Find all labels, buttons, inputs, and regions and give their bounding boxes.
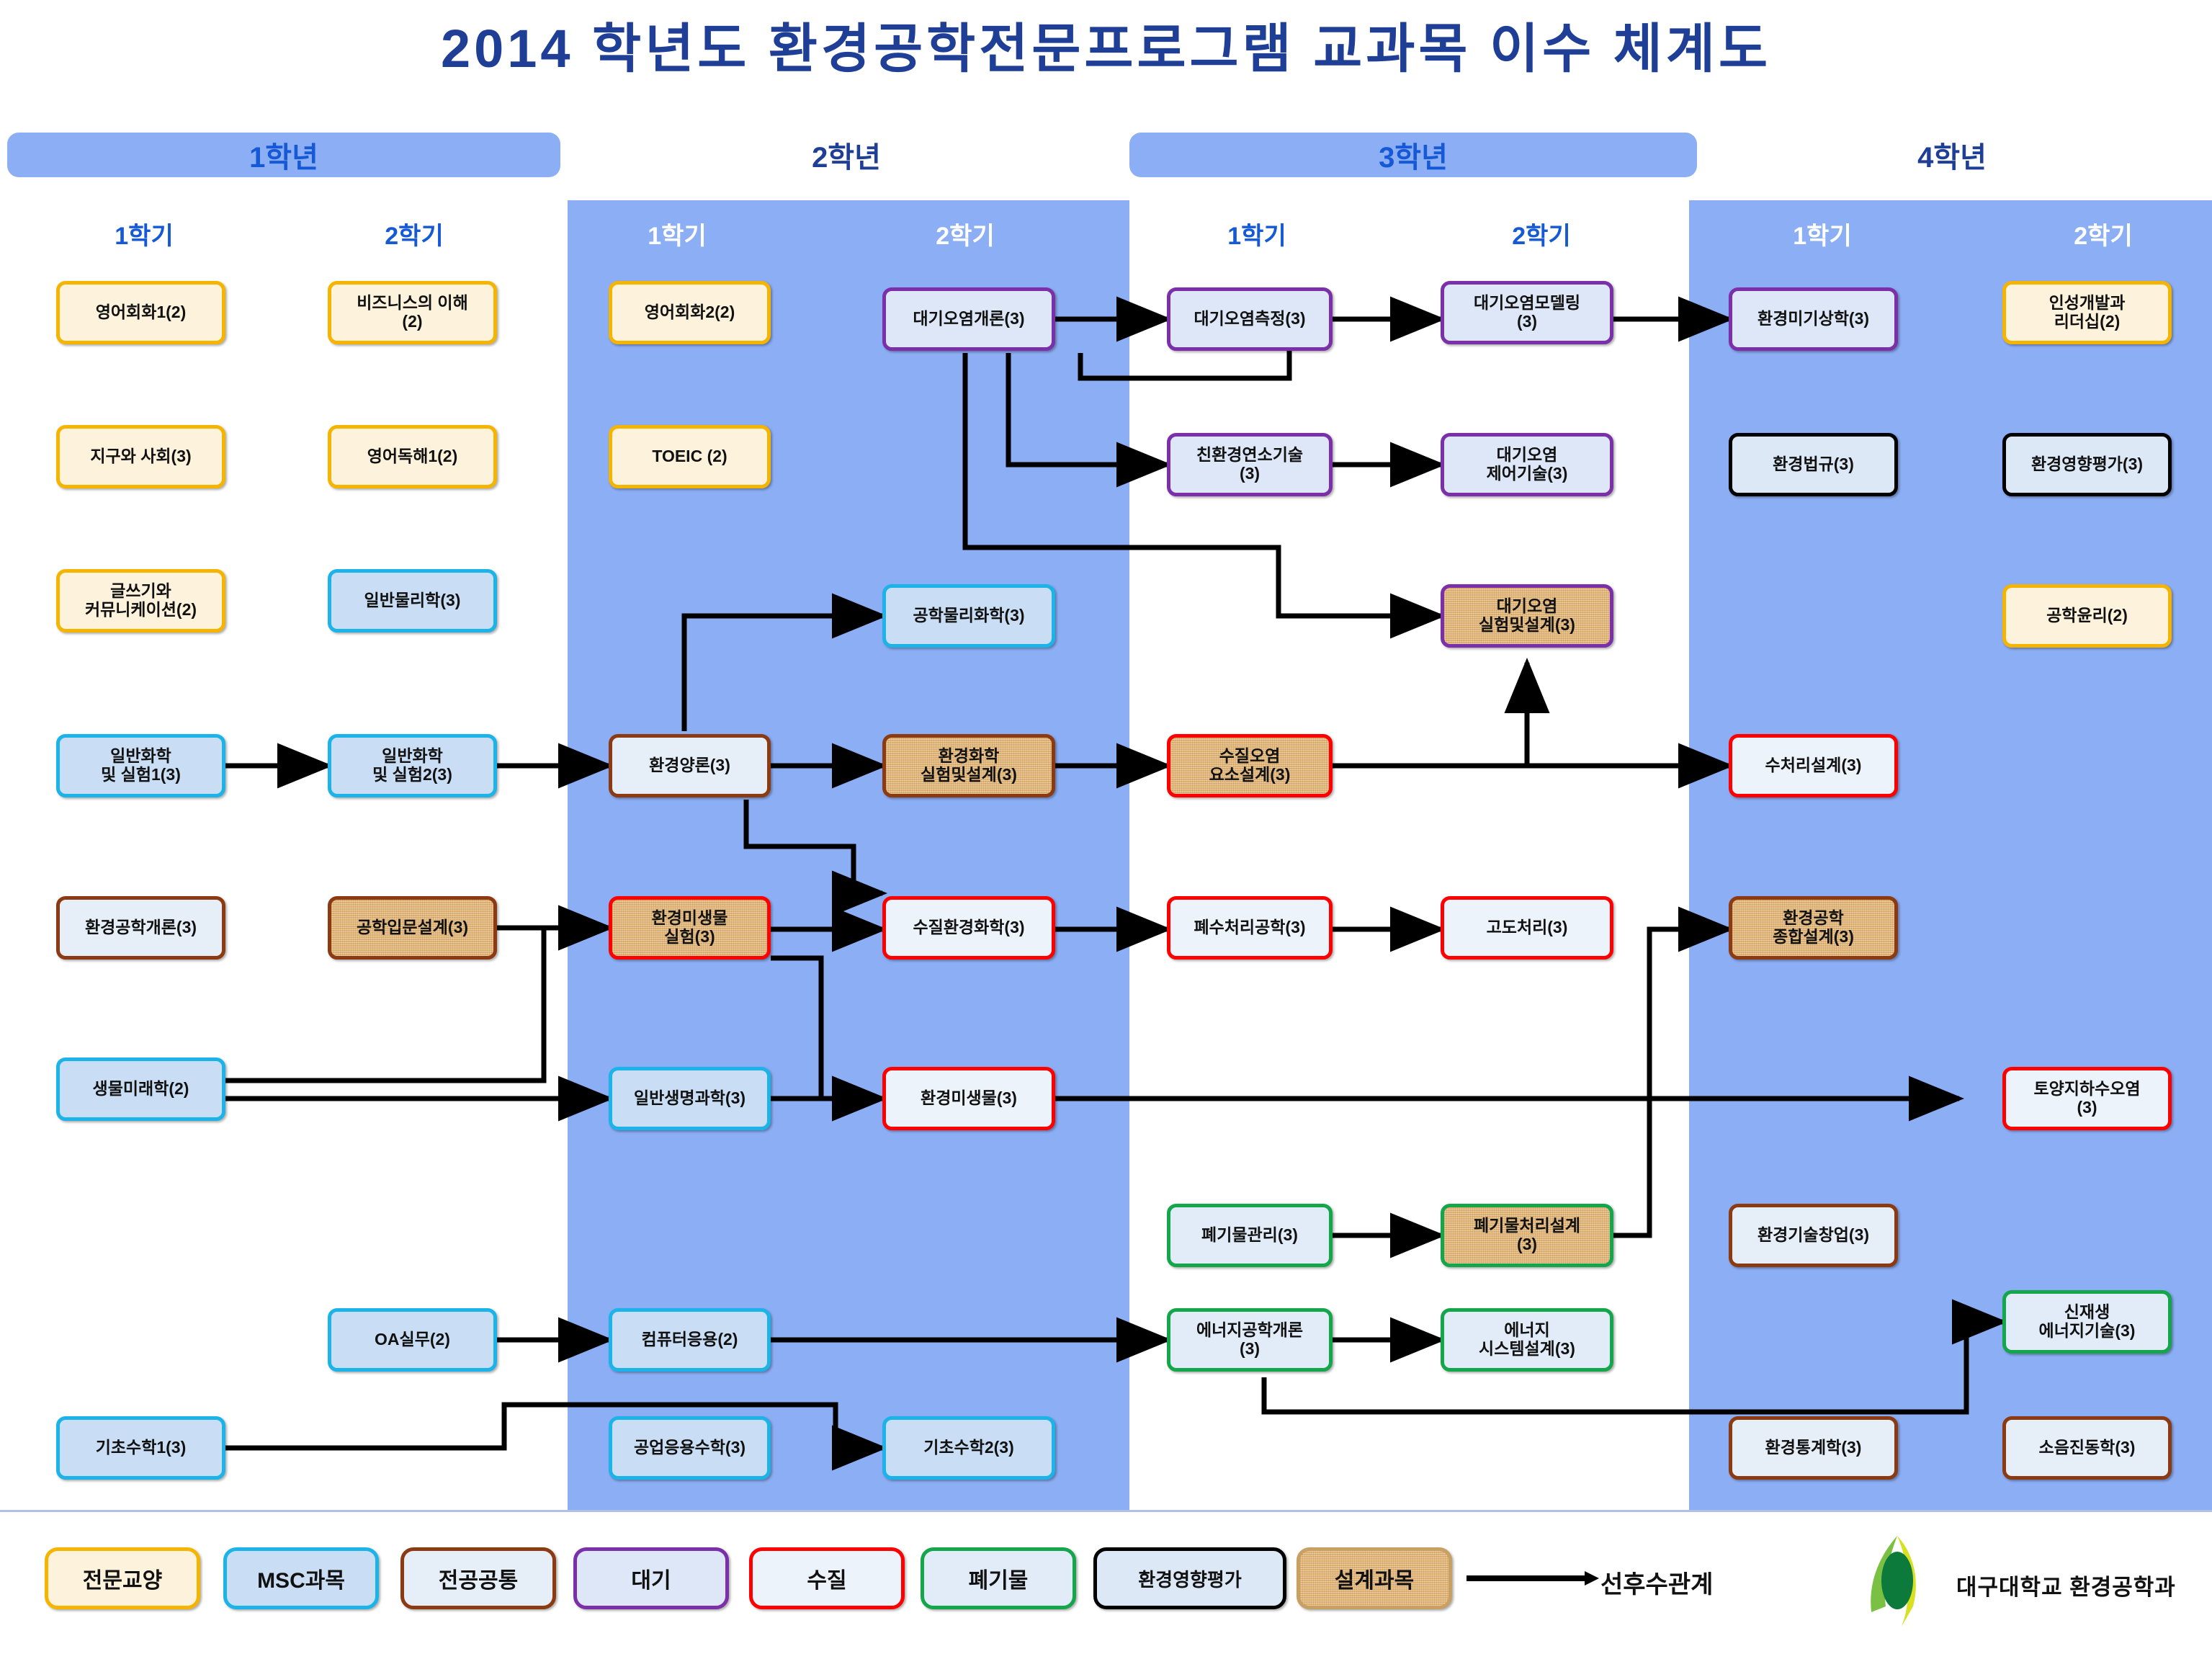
footer-divider: [0, 1510, 2212, 1512]
legend-item-design[interactable]: 설계과목: [1297, 1547, 1452, 1609]
legend-arrow-icon: [1462, 1562, 1599, 1595]
course-box[interactable]: 공학물리화학(3): [882, 584, 1055, 648]
course-box[interactable]: 토양지하수오염 (3): [2002, 1067, 2172, 1130]
curriculum-flowchart: 2014 학년도 환경공학전문프로그램 교과목 이수 체계도 1학년 2학년 3…: [0, 0, 2212, 1659]
course-box[interactable]: 환경화학 실험및설계(3): [882, 734, 1055, 797]
semester-label-1-1: 1학기: [58, 216, 230, 251]
legend-item-air[interactable]: 대기: [573, 1547, 729, 1609]
course-box[interactable]: 대기오염측정(3): [1167, 287, 1333, 351]
course-box[interactable]: 생물미래학(2): [56, 1057, 225, 1121]
course-box[interactable]: 일반생명과학(3): [609, 1067, 771, 1130]
university-logo-icon: [1851, 1534, 1946, 1628]
year-header-2: 2학년: [569, 133, 1124, 177]
course-box[interactable]: 일반물리학(3): [328, 569, 497, 632]
course-box[interactable]: 대기오염모델링 (3): [1441, 281, 1613, 344]
course-box[interactable]: 환경영향평가(3): [2002, 433, 2172, 496]
legend-item-eia[interactable]: 환경영향평가: [1093, 1547, 1286, 1609]
course-box[interactable]: 에너지공학개론 (3): [1167, 1308, 1333, 1372]
year-header-1: 1학년: [7, 133, 560, 177]
legend-item-liberal[interactable]: 전문교양: [45, 1547, 200, 1609]
course-box[interactable]: 일반화학 및 실험1(3): [56, 734, 225, 797]
course-box[interactable]: OA실무(2): [328, 1308, 497, 1372]
course-box[interactable]: 비즈니스의 이해 (2): [328, 281, 497, 344]
course-box[interactable]: 대기오염 제어기술(3): [1441, 433, 1613, 496]
legend-item-msc[interactable]: MSC과목: [223, 1547, 379, 1609]
course-box[interactable]: 에너지 시스템설계(3): [1441, 1308, 1613, 1372]
course-box[interactable]: 환경공학개론(3): [56, 896, 225, 960]
course-box[interactable]: 환경양론(3): [609, 734, 771, 797]
course-box[interactable]: 기초수학1(3): [56, 1416, 225, 1480]
course-box[interactable]: 고도처리(3): [1441, 896, 1613, 960]
legend-item-major[interactable]: 전공공통: [400, 1547, 556, 1609]
legend-arrow-label: 선후수관계: [1600, 1565, 1713, 1600]
course-box[interactable]: 수질환경화학(3): [882, 896, 1055, 960]
semester-label-2-1: 1학기: [591, 216, 764, 251]
course-box[interactable]: 환경공학 종합설계(3): [1729, 896, 1898, 960]
year-header-2-label: 2학년: [812, 134, 881, 176]
course-box[interactable]: TOEIC (2): [609, 425, 771, 488]
course-box[interactable]: 수처리설계(3): [1729, 734, 1898, 797]
course-box[interactable]: 인성개발과 리더십(2): [2002, 281, 2172, 344]
course-box[interactable]: 환경통계학(3): [1729, 1416, 1898, 1480]
course-box[interactable]: 수질오염 요소설계(3): [1167, 734, 1333, 797]
year-header-3: 3학년: [1129, 133, 1697, 177]
course-box[interactable]: 폐수처리공학(3): [1167, 896, 1333, 960]
year-header-4: 4학년: [1700, 133, 2204, 177]
semester-label-3-2: 2학기: [1455, 216, 1628, 251]
course-box[interactable]: 컴퓨터응용(2): [609, 1308, 771, 1372]
course-box[interactable]: 글쓰기와 커뮤니케이션(2): [56, 569, 225, 632]
course-box[interactable]: 일반화학 및 실험2(3): [328, 734, 497, 797]
year-header-4-label: 4학년: [1917, 134, 1987, 176]
course-box[interactable]: 친환경연소기술 (3): [1167, 433, 1333, 496]
semester-label-4-1: 1학기: [1736, 216, 1909, 251]
course-box[interactable]: 소음진동학(3): [2002, 1416, 2172, 1480]
year-header-1-label: 1학년: [249, 134, 318, 176]
university-brand-label: 대구대학교 환경공학과: [1956, 1569, 2176, 1601]
course-box[interactable]: 환경미생물(3): [882, 1067, 1055, 1130]
course-box[interactable]: 영어회화2(2): [609, 281, 771, 344]
course-box[interactable]: 환경기술창업(3): [1729, 1204, 1898, 1267]
course-box[interactable]: 환경법규(3): [1729, 433, 1898, 496]
course-box[interactable]: 신재생 에너지기술(3): [2002, 1290, 2172, 1354]
semester-label-2-2: 2학기: [879, 216, 1052, 251]
course-box[interactable]: 대기오염 실험및설계(3): [1441, 584, 1613, 648]
page-title: 2014 학년도 환경공학전문프로그램 교과목 이수 체계도: [0, 6, 2212, 83]
semester-label-4-2: 2학기: [2017, 216, 2190, 251]
course-box[interactable]: 지구와 사회(3): [56, 425, 225, 488]
course-box[interactable]: 영어독해1(2): [328, 425, 497, 488]
course-box[interactable]: 폐기물처리설계 (3): [1441, 1204, 1613, 1267]
semester-label-1-2: 2학기: [328, 216, 501, 251]
course-box[interactable]: 공학입문설계(3): [328, 896, 497, 960]
legend-item-waste[interactable]: 폐기물: [921, 1547, 1076, 1609]
course-box[interactable]: 환경미기상학(3): [1729, 287, 1898, 351]
course-box[interactable]: 공업응용수학(3): [609, 1416, 771, 1480]
year-header-3-label: 3학년: [1379, 134, 1448, 176]
semester-label-3-1: 1학기: [1170, 216, 1343, 251]
course-box[interactable]: 폐기물관리(3): [1167, 1204, 1333, 1267]
course-box[interactable]: 대기오염개론(3): [882, 287, 1055, 351]
course-box[interactable]: 환경미생물 실험(3): [609, 896, 771, 960]
legend-item-water[interactable]: 수질: [749, 1547, 905, 1609]
course-box[interactable]: 기초수학2(3): [882, 1416, 1055, 1480]
course-box[interactable]: 영어회화1(2): [56, 281, 225, 344]
course-box[interactable]: 공학윤리(2): [2002, 584, 2172, 648]
